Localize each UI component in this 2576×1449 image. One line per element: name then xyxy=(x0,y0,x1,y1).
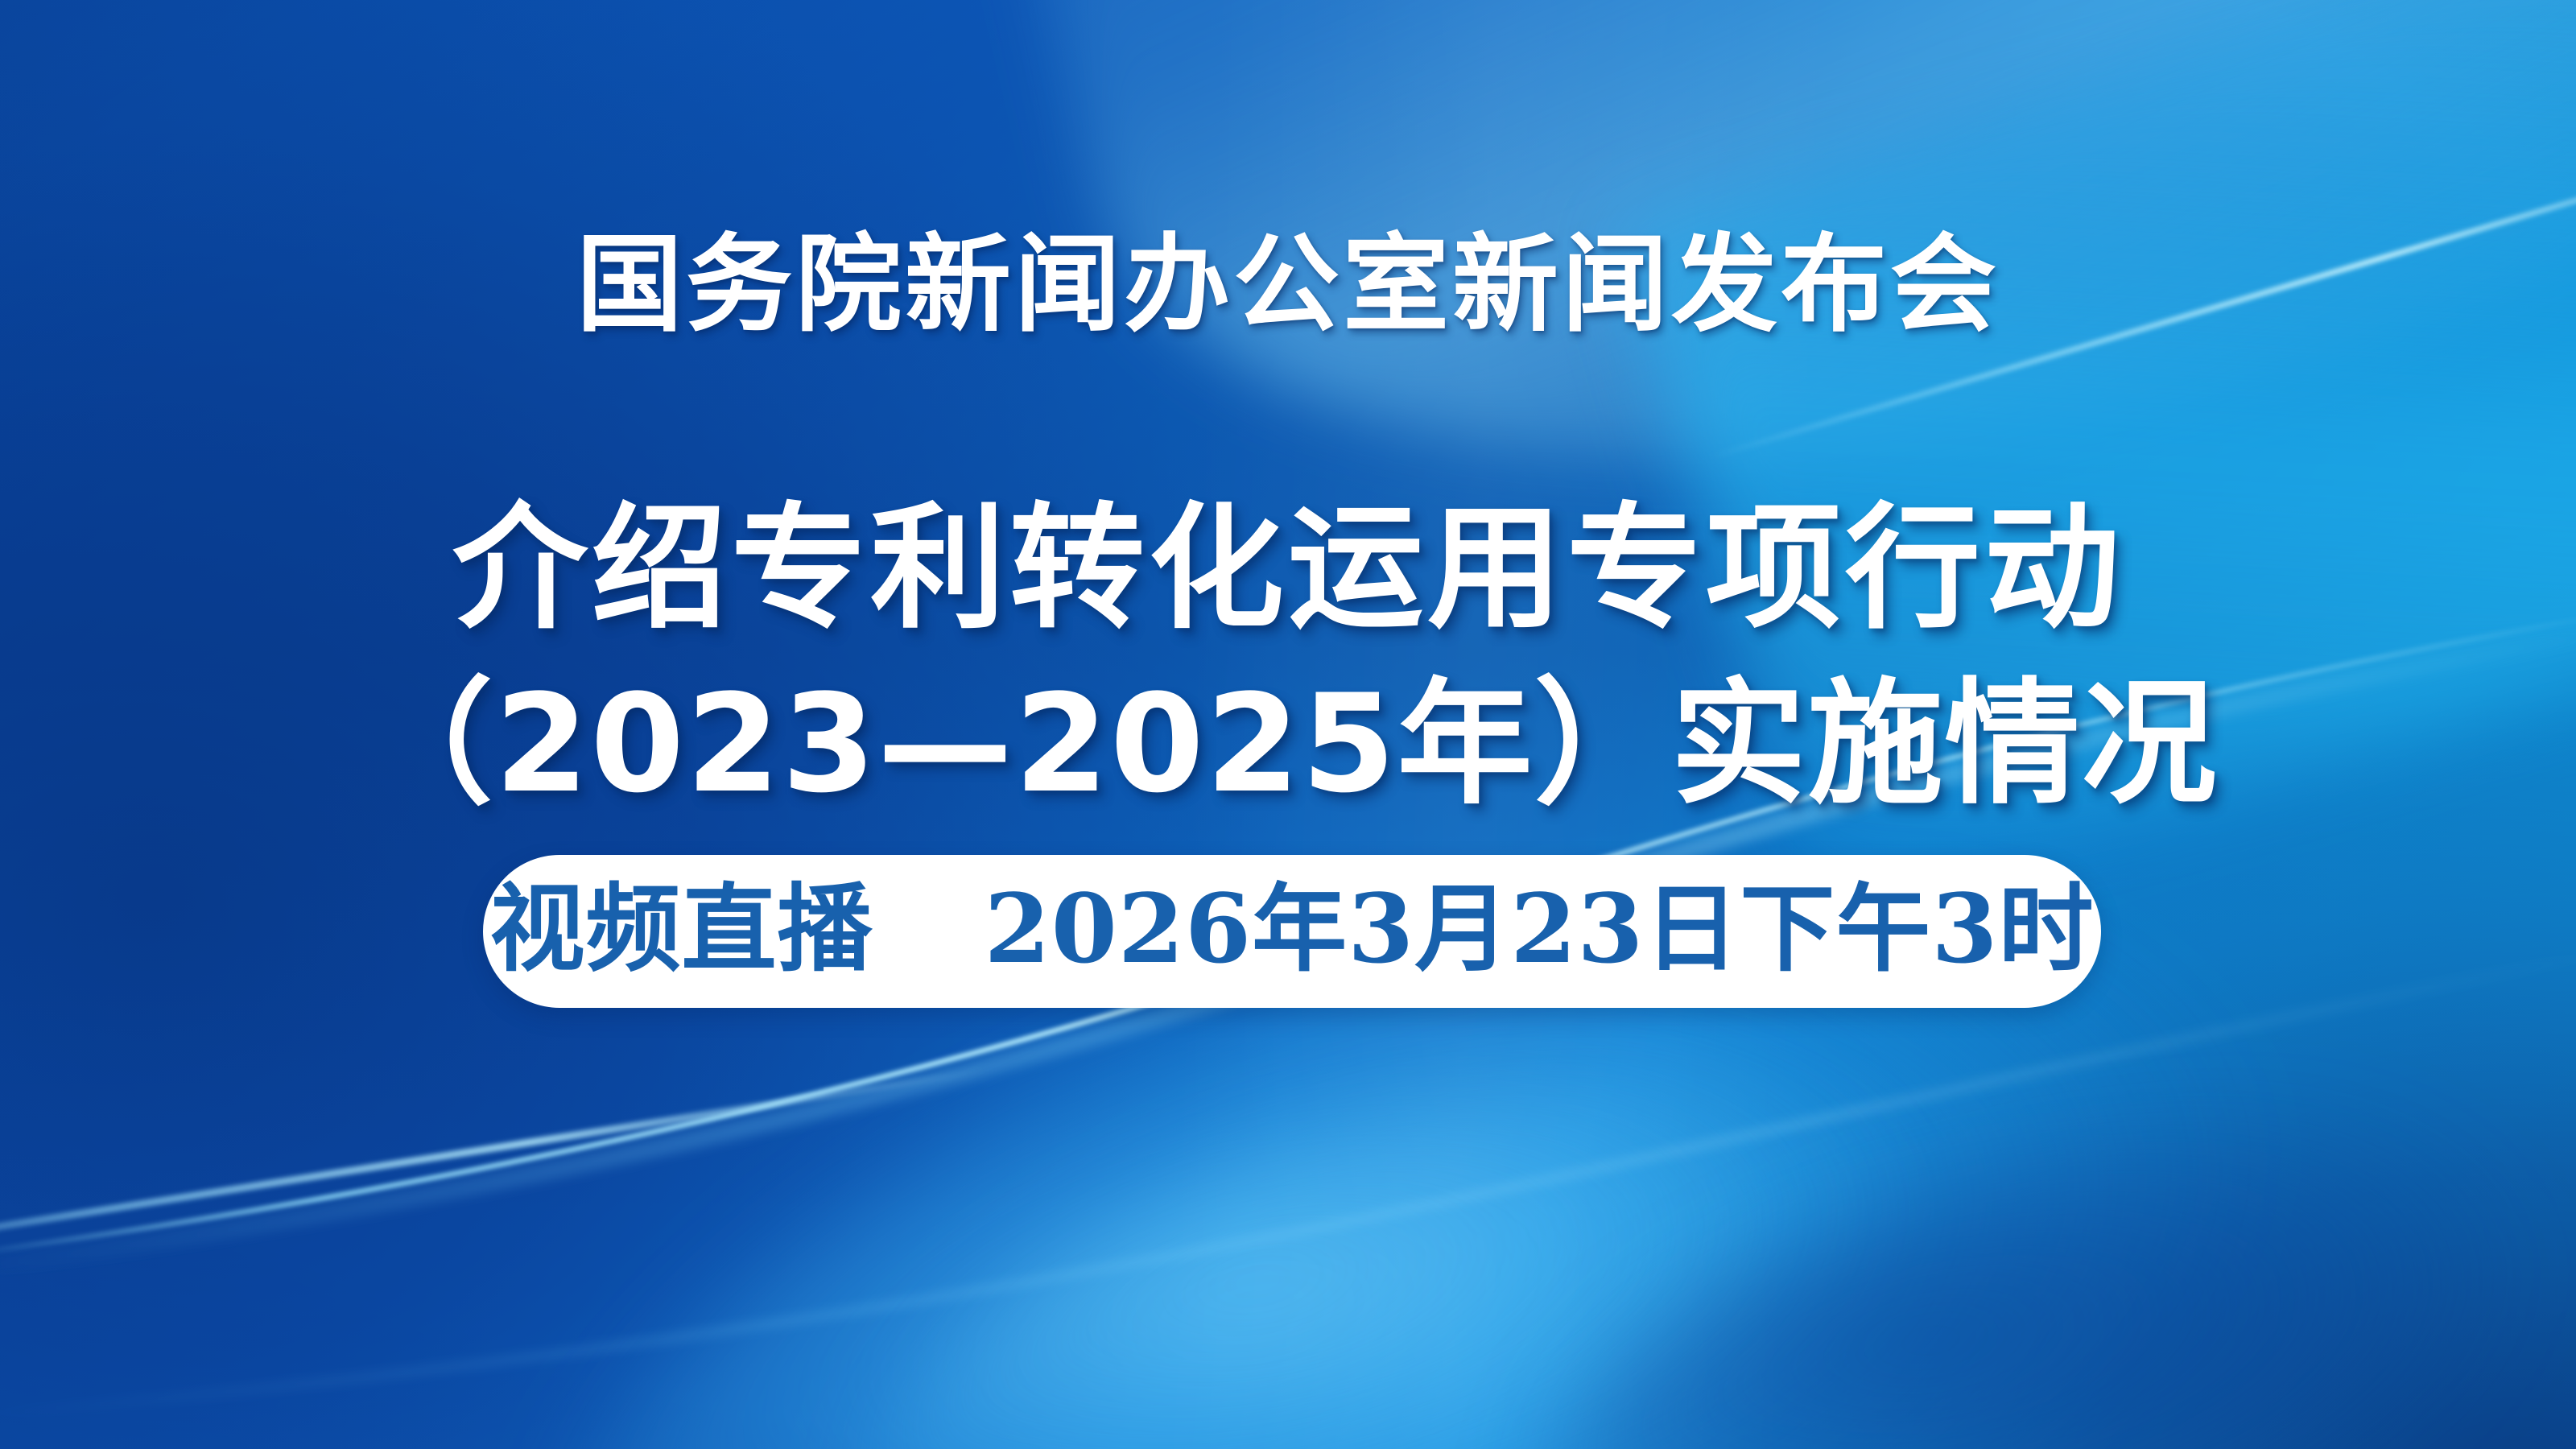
live-datetime-label: 2026年3月23日下午3时 xyxy=(985,873,2095,985)
live-badge-text: 视频直播 2026年3月23日下午3时 xyxy=(489,881,2094,976)
poster-content: 国务院新闻办公室新闻发布会 介绍专利转化运用专项行动 （2023—2025年）实… xyxy=(0,0,2576,1449)
agency-title: 国务院新闻办公室新闻发布会 xyxy=(0,232,2576,338)
live-broadcast-badge[interactable]: 视频直播 2026年3月23日下午3时 xyxy=(483,855,2101,1008)
headline-line-2: （2023—2025年）实施情况 xyxy=(0,657,2576,832)
headline-line-1: 介绍专利转化运用专项行动 xyxy=(0,481,2576,657)
press-conference-poster: 国务院新闻办公室新闻发布会 介绍专利转化运用专项行动 （2023—2025年）实… xyxy=(0,0,2576,1449)
live-format-label: 视频直播 xyxy=(489,873,873,985)
page-title: 介绍专利转化运用专项行动 （2023—2025年）实施情况 xyxy=(0,481,2576,832)
